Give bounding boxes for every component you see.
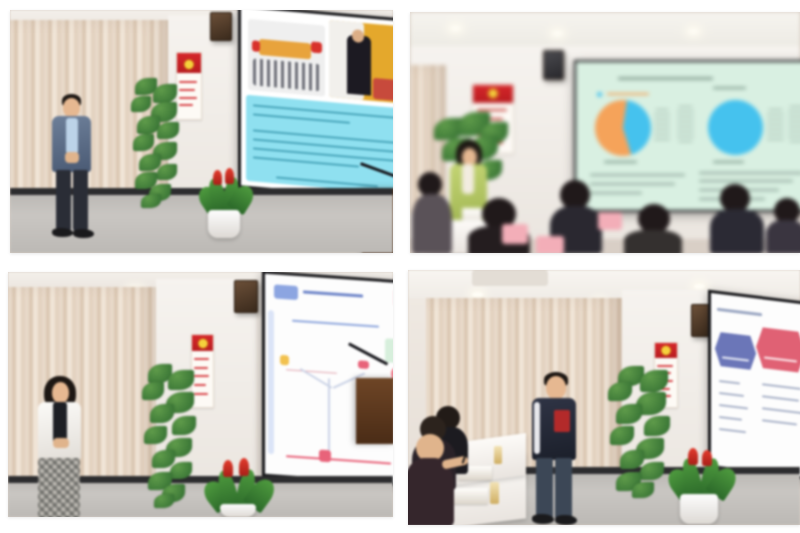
slide-heading — [618, 77, 712, 80]
slide-side-table-d — [788, 106, 800, 142]
slide-body-line — [762, 408, 800, 415]
chart-legend-swatch — [597, 92, 602, 97]
pothos-plant — [138, 364, 204, 508]
slide-banner-mark-right — [311, 42, 322, 54]
audience-member — [412, 172, 454, 253]
slide-speaker-head — [352, 29, 364, 43]
audience-member — [710, 184, 764, 253]
chair-back-pink — [536, 236, 564, 253]
flow-footer — [286, 455, 391, 464]
badge-01 — [715, 331, 756, 370]
presenter-leg-right — [73, 170, 88, 232]
audience-member — [624, 204, 682, 253]
presenter-jeans-left — [536, 458, 553, 520]
scene-top-left — [10, 10, 393, 253]
presenter-jeans-right — [555, 458, 572, 520]
flow-connector — [328, 378, 330, 454]
slide-speaker-figure — [347, 34, 372, 95]
bromeliad-plant — [670, 448, 734, 498]
presenter-trousers — [38, 458, 80, 517]
scene-bottom-left — [8, 272, 393, 517]
ceiling-downlight — [552, 31, 563, 36]
slide-body-line — [762, 384, 800, 391]
scene-bottom-right — [408, 270, 800, 525]
white-plant-pot — [220, 504, 256, 517]
ceiling-speaker — [210, 12, 232, 41]
glass-cup — [490, 482, 499, 504]
chair-back-pink — [502, 224, 528, 244]
presenter-shoe-left — [532, 514, 554, 524]
presenter-head — [63, 98, 80, 117]
slide-body-line — [762, 396, 799, 403]
photo-collage — [0, 0, 800, 533]
slide-footer-line — [590, 183, 675, 185]
photo-bottom-left[interactable] — [8, 272, 393, 517]
white-plant-pot — [680, 494, 718, 524]
pie-chart-right-caption — [713, 161, 744, 163]
flow-connector — [292, 320, 379, 328]
flow-node — [358, 360, 369, 369]
sweater-stripe — [534, 402, 540, 454]
bromeliad-plant — [198, 168, 254, 214]
pie-chart-left — [595, 100, 651, 156]
glass-cup — [494, 446, 502, 464]
slide-side-table-b — [677, 106, 694, 142]
slide-heading-chip — [274, 284, 298, 300]
chair-back-pink — [598, 212, 622, 230]
slide-footer-line — [699, 172, 800, 174]
slide-body-line — [719, 392, 744, 397]
pie-chart-right-title — [713, 87, 746, 89]
podium — [356, 378, 393, 444]
ceiling-downlight — [450, 26, 461, 31]
presenter-shirt — [66, 118, 78, 154]
curtain — [8, 287, 158, 488]
photo-bottom-right[interactable] — [408, 270, 800, 525]
slide-side-table-a — [654, 109, 671, 142]
slide-footer-line — [590, 174, 684, 176]
photo-top-right[interactable] — [410, 12, 800, 253]
presenter-leg-left — [56, 170, 71, 232]
slide-body-line — [762, 420, 797, 426]
slide-side-table-c — [767, 109, 784, 142]
slide-side-label — [385, 338, 393, 364]
slide-body-line — [719, 428, 746, 433]
slide-body-line — [719, 380, 741, 385]
presenter-hands — [65, 152, 79, 163]
ceiling-downlight — [472, 292, 483, 297]
slide-heading-text — [303, 290, 363, 297]
slide-footer-line — [699, 180, 793, 182]
bromeliad-plant — [206, 458, 272, 510]
presenter-hands — [53, 438, 69, 448]
badge-02 — [756, 326, 800, 373]
presenter-head — [546, 376, 566, 399]
ceiling-speaker — [234, 280, 258, 313]
slide-podium — [373, 78, 393, 102]
pie-chart-left-caption — [604, 161, 637, 163]
presenter-shoe-right — [73, 229, 94, 238]
slide-banner-mark-left — [252, 40, 261, 51]
flow-footer-chip — [319, 450, 331, 463]
presenter-shoe-left — [52, 228, 73, 237]
audience-member — [766, 198, 800, 253]
white-plant-pot — [208, 210, 240, 238]
scene-top-right — [410, 12, 800, 253]
sweater-patch — [554, 410, 570, 432]
pie-chart-right — [708, 100, 763, 155]
presenter-inner-top — [462, 164, 474, 194]
flow-node — [280, 355, 289, 366]
panel-member — [408, 434, 454, 525]
slide-body-line — [719, 416, 743, 421]
presenter-head — [52, 382, 69, 403]
slide-left-bar — [268, 310, 274, 454]
ceiling-downlight — [688, 29, 699, 34]
ceiling-beam — [472, 270, 548, 286]
photo-top-left[interactable] — [10, 10, 393, 253]
projector-screen — [238, 10, 393, 204]
presenter-shoe-right — [555, 515, 577, 525]
notebook — [452, 488, 488, 504]
pothos-plant — [127, 76, 187, 208]
chart-legend-label — [607, 93, 649, 95]
slide-title — [717, 307, 762, 316]
slide-body-line — [719, 404, 748, 410]
projector-screen — [574, 60, 800, 212]
flow-connector — [286, 369, 337, 374]
ceiling-downlight — [694, 284, 705, 289]
ceiling-speaker — [543, 50, 564, 80]
